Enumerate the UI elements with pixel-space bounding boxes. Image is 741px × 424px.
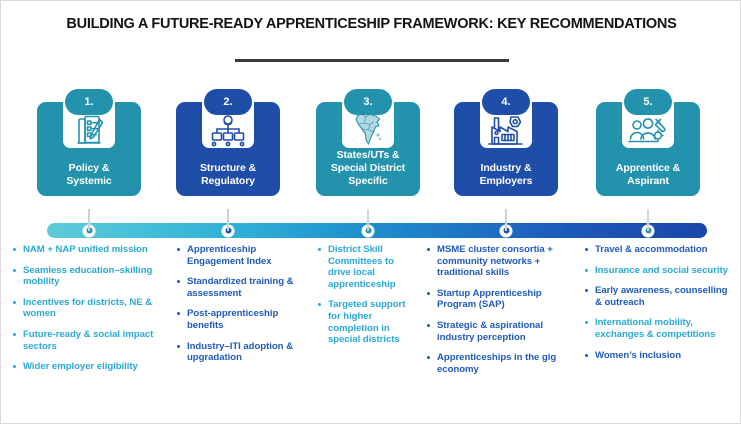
progress-gradient-bar (47, 223, 707, 238)
pillar-connector-stem (227, 209, 229, 231)
pillar-number-badge: 2. (204, 89, 252, 115)
recommendation-columns: NAM + NAP unified missionSeamless educat… (1, 244, 741, 404)
pillar-number-badge: 4. (482, 89, 530, 115)
pillar-card-5[interactable]: 5.Apprentice &Aspirant (593, 89, 703, 196)
pillar-connector-stem (88, 209, 90, 231)
pillar-connector-stem (647, 209, 649, 231)
recommendation-item: Insurance and social security (583, 265, 733, 277)
pillar-connector-stem (367, 209, 369, 231)
recommendation-column-4: MSME cluster consortia + community netwo… (425, 244, 575, 384)
recommendation-item: Industry–ITI adoption & upgradation (175, 341, 307, 364)
page-title: BUILDING A FUTURE-READY APPRENTICESHIP F… (18, 15, 726, 32)
recommendation-item: Startup Apprenticeship Program (SAP) (425, 288, 575, 311)
pillar-number-badge: 5. (624, 89, 672, 115)
recommendation-column-1: NAM + NAP unified missionSeamless educat… (11, 244, 166, 382)
recommendation-item: Women’s inclusion (583, 350, 733, 362)
recommendation-item: Seamless education–skilling mobility (11, 265, 166, 288)
pillar-cards-row: 1.Policy &Systemic2.Structure &Regulator… (1, 89, 741, 221)
recommendation-item: Post-apprenticeship benefits (175, 308, 307, 331)
pillar-card-3[interactable]: 3.States/UTs &Special DistrictSpecific (313, 89, 423, 196)
recommendation-item: Apprenticeship Engagement Index (175, 244, 307, 267)
pillar-card-4[interactable]: 4.Industry &Employers (451, 89, 561, 196)
recommendation-column-3: District Skill Committees to drive local… (316, 244, 416, 355)
recommendation-item: Targeted support for higher completion i… (316, 299, 416, 345)
recommendation-item: Travel & accommodation (583, 244, 733, 256)
recommendation-item: Strategic & aspirational industry percep… (425, 320, 575, 343)
recommendation-item: Wider employer eligibility (11, 361, 166, 373)
pillar-number-badge: 1. (65, 89, 113, 115)
pillar-card-body: Industry &Employers (454, 102, 558, 196)
recommendation-item: Standardized training & assessment (175, 276, 307, 299)
infographic-canvas: BUILDING A FUTURE-READY APPRENTICESHIP F… (0, 0, 741, 424)
recommendation-column-2: Apprenticeship Engagement IndexStandardi… (175, 244, 307, 373)
pillar-card-label: Structure &Regulatory (176, 162, 280, 188)
pillar-connector-stem (505, 209, 507, 231)
pillar-card-body: Structure &Regulatory (176, 102, 280, 196)
pillar-card-body: Policy &Systemic (37, 102, 141, 196)
recommendation-item: Incentives for districts, NE & women (11, 297, 166, 320)
recommendation-item: NAM + NAP unified mission (11, 244, 166, 256)
pillar-card-label: States/UTs &Special DistrictSpecific (316, 149, 420, 188)
title-block: BUILDING A FUTURE-READY APPRENTICESHIP F… (1, 15, 741, 62)
title-underline-rule (235, 59, 509, 62)
recommendation-column-5: Travel & accommodationInsurance and soci… (583, 244, 733, 370)
recommendation-item: Future-ready & social impact sectors (11, 329, 166, 352)
pillar-card-2[interactable]: 2.Structure &Regulatory (173, 89, 283, 196)
recommendation-item: International mobility, exchanges & comp… (583, 317, 733, 340)
pillar-number-badge: 3. (344, 89, 392, 115)
pillar-card-body: States/UTs &Special DistrictSpecific (316, 102, 420, 196)
pillar-card-label: Apprentice &Aspirant (596, 162, 700, 188)
pillar-card-label: Policy &Systemic (37, 162, 141, 188)
pillar-card-label: Industry &Employers (454, 162, 558, 188)
pillar-card-1[interactable]: 1.Policy &Systemic (34, 89, 144, 196)
recommendation-item: Early awareness, counselling & outreach (583, 285, 733, 308)
recommendation-item: Apprenticeships in the gig economy (425, 352, 575, 375)
recommendation-item: District Skill Committees to drive local… (316, 244, 416, 290)
pillar-card-body: Apprentice &Aspirant (596, 102, 700, 196)
recommendation-item: MSME cluster consortia + community netwo… (425, 244, 575, 279)
